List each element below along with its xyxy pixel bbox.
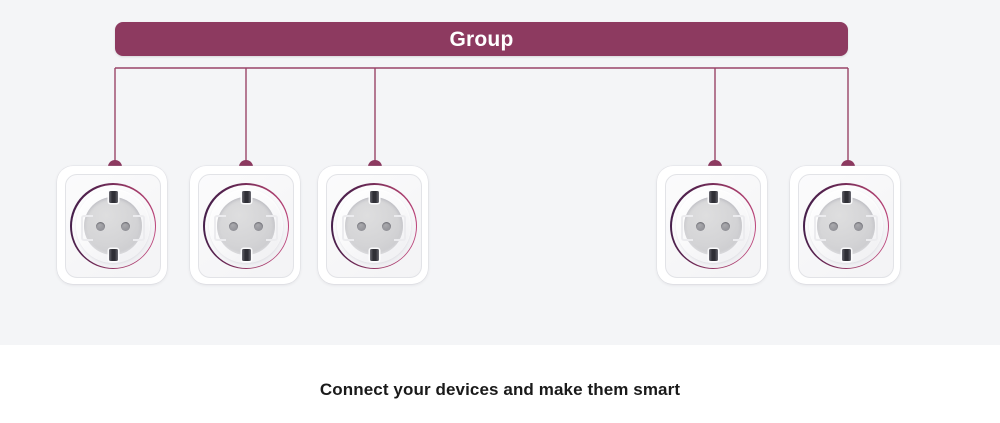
earth-clip-top-icon xyxy=(370,191,379,203)
group-title: Group xyxy=(450,29,514,50)
earth-contact-right-icon xyxy=(866,215,878,241)
socket-face xyxy=(817,197,875,255)
socket-face xyxy=(345,197,403,255)
earth-contact-left-icon xyxy=(342,215,354,241)
pin-hole-left-icon xyxy=(357,222,366,231)
pin-hole-left-icon xyxy=(829,222,838,231)
earth-clip-bottom-icon xyxy=(709,249,718,261)
pin-hole-left-icon xyxy=(696,222,705,231)
caption-area: Connect your devices and make them smart xyxy=(0,345,1000,423)
earth-clip-bottom-icon xyxy=(370,249,379,261)
smart-plug-card-2[interactable] xyxy=(190,166,300,284)
pin-hole-right-icon xyxy=(721,222,730,231)
pin-hole-left-icon xyxy=(229,222,238,231)
socket-body xyxy=(798,174,894,278)
earth-contact-left-icon xyxy=(681,215,693,241)
socket-body xyxy=(326,174,422,278)
socket-face xyxy=(684,197,742,255)
earth-clip-bottom-icon xyxy=(842,249,851,261)
earth-clip-top-icon xyxy=(842,191,851,203)
pin-hole-left-icon xyxy=(96,222,105,231)
pin-hole-right-icon xyxy=(254,222,263,231)
smart-plug-card-1[interactable] xyxy=(57,166,167,284)
earth-contact-right-icon xyxy=(394,215,406,241)
pin-hole-right-icon xyxy=(382,222,391,231)
earth-clip-top-icon xyxy=(242,191,251,203)
socket-face xyxy=(84,197,142,255)
earth-contact-right-icon xyxy=(733,215,745,241)
earth-contact-left-icon xyxy=(214,215,226,241)
diagram-canvas: Group xyxy=(0,0,1000,423)
socket-body xyxy=(65,174,161,278)
socket-face xyxy=(217,197,275,255)
caption-text: Connect your devices and make them smart xyxy=(0,380,1000,400)
pin-hole-right-icon xyxy=(854,222,863,231)
earth-contact-right-icon xyxy=(133,215,145,241)
pin-hole-right-icon xyxy=(121,222,130,231)
earth-contact-left-icon xyxy=(81,215,93,241)
earth-contact-left-icon xyxy=(814,215,826,241)
socket-body xyxy=(665,174,761,278)
smart-plug-card-3[interactable] xyxy=(318,166,428,284)
earth-clip-bottom-icon xyxy=(242,249,251,261)
earth-contact-right-icon xyxy=(266,215,278,241)
group-header-bar[interactable]: Group xyxy=(115,22,848,56)
earth-clip-bottom-icon xyxy=(109,249,118,261)
socket-body xyxy=(198,174,294,278)
earth-clip-top-icon xyxy=(109,191,118,203)
smart-plug-card-5[interactable] xyxy=(790,166,900,284)
earth-clip-top-icon xyxy=(709,191,718,203)
smart-plug-card-4[interactable] xyxy=(657,166,767,284)
